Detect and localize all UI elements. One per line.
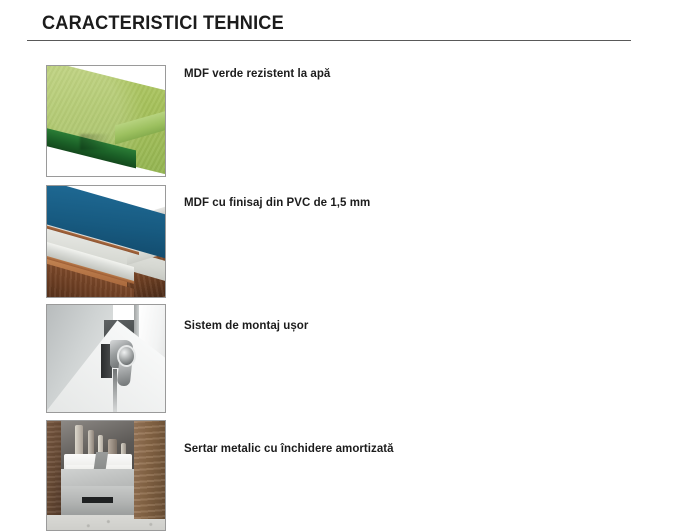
bracket-screw: [110, 364, 121, 377]
green-mdf-board-image: [47, 66, 165, 176]
page-title: CARACTERISTICI TEHNICE: [42, 12, 284, 35]
bottle: [88, 430, 94, 455]
bottles-group: [73, 423, 130, 456]
feature-thumbnail-mdf-verde: [46, 65, 166, 177]
feature-thumbnail-sertar-metalic: [46, 420, 166, 531]
feature-label-mdf-verde: MDF verde rezistent la apă: [184, 68, 330, 80]
bracket-ring: [117, 345, 136, 367]
pvc-edge-panels-image: [47, 186, 165, 297]
page-header: CARACTERISTICI TEHNICE: [0, 0, 700, 50]
mounting-bracket-image: [47, 305, 165, 412]
drawer-handle: [82, 497, 113, 502]
cabinet-right-wood-panel: [134, 421, 165, 519]
feature-label-pvc-finisaj: MDF cu finisaj din PVC de 1,5 mm: [184, 197, 370, 209]
feature-thumbnail-pvc-finisaj: [46, 185, 166, 298]
feature-label-sistem-montaj: Sistem de montaj ușor: [184, 320, 308, 332]
feature-thumbnail-sistem-montaj: [46, 304, 166, 413]
soft-close-drawer-image: [47, 421, 165, 530]
title-divider: [27, 40, 631, 41]
bottle: [75, 425, 83, 456]
feature-label-sertar-metalic: Sertar metalic cu închidere amortizată: [184, 443, 394, 455]
board-corner-shadow: [80, 134, 111, 149]
cabinet-left-wood-panel: [47, 421, 61, 515]
